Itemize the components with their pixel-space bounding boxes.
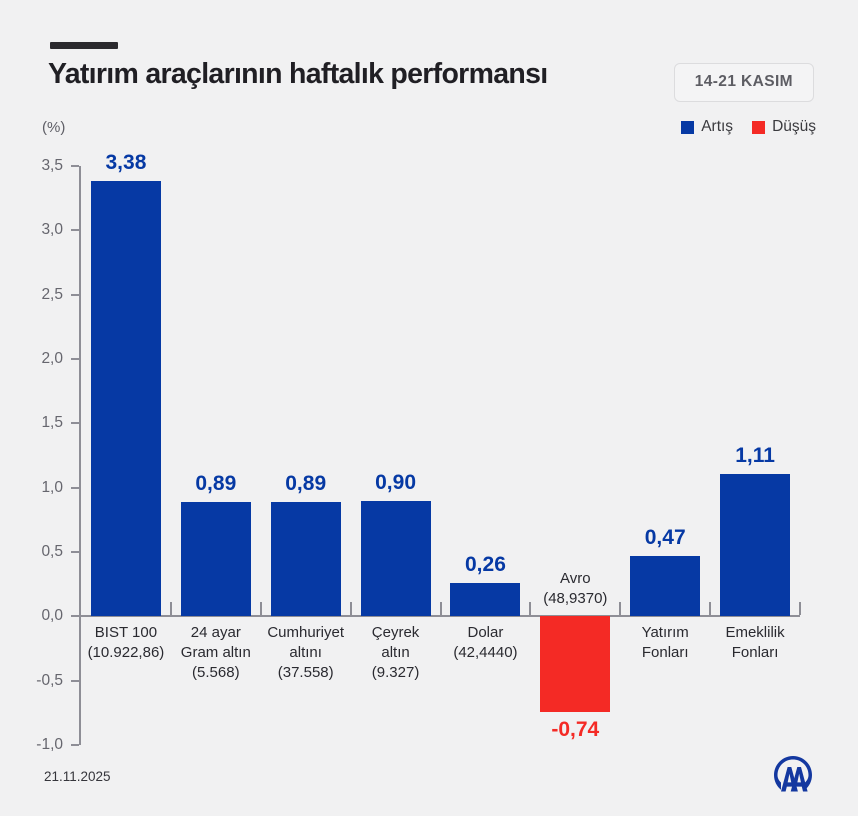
x-axis-category-label: EmeklilikFonları: [687, 623, 823, 663]
y-axis-tick: [71, 744, 79, 746]
y-axis-tick: [71, 229, 79, 231]
y-axis-tick: [71, 487, 79, 489]
category-label-line: (42,4440): [418, 643, 554, 663]
bar-chart: 3,53,02,52,01,51,00,50,0-0,5-1,03,38BIST…: [0, 0, 858, 816]
y-axis-tick-label: -0,5: [21, 672, 63, 690]
category-label-line: Avro: [507, 569, 643, 589]
y-axis-tick-label: 2,5: [21, 286, 63, 304]
bar-bist-100[interactable]: [91, 181, 161, 616]
x-axis-separator-tick: [260, 602, 262, 615]
y-axis-tick-label: 1,5: [21, 414, 63, 432]
y-axis-tick: [71, 358, 79, 360]
y-axis-tick: [71, 294, 79, 296]
y-axis-tick-label: 0,0: [21, 607, 63, 625]
x-axis-category-label: Avro(48,9370): [507, 569, 643, 609]
y-axis-tick-label: 1,0: [21, 479, 63, 497]
x-axis-separator-tick: [709, 602, 711, 615]
bar-yat-r-m-fonlar-[interactable]: [630, 556, 700, 616]
bar-cumhuriyet-alt-n-[interactable]: [271, 502, 341, 617]
x-axis-separator-tick: [799, 602, 801, 615]
y-axis-tick-label: 2,0: [21, 350, 63, 368]
x-axis-separator-tick: [350, 602, 352, 615]
x-axis-separator-tick: [619, 602, 621, 615]
anadolu-agency-logo: [770, 754, 816, 794]
y-axis-tick: [71, 680, 79, 682]
x-axis-separator-tick: [440, 602, 442, 615]
y-axis-tick-label: 3,5: [21, 157, 63, 175]
y-axis-tick-label: 3,0: [21, 221, 63, 239]
footer-date: 21.11.2025: [44, 769, 111, 784]
y-axis-tick-label: 0,5: [21, 543, 63, 561]
bar-emeklilik-fonlar-[interactable]: [720, 474, 790, 617]
y-axis-tick-label: -1,0: [21, 736, 63, 754]
bar-24-ayar-gram-alt-n[interactable]: [181, 502, 251, 617]
category-label-line: Fonları: [687, 643, 823, 663]
bar-value-label: 0,90: [331, 471, 461, 495]
y-axis-tick: [71, 615, 79, 617]
bar-value-label: -0,74: [510, 718, 640, 742]
x-axis-category-label: Dolar(42,4440): [418, 623, 554, 663]
x-axis-separator-tick: [170, 602, 172, 615]
category-label-line: (9.327): [328, 663, 464, 683]
category-label-line: Emeklilik: [687, 623, 823, 643]
bar-value-label: 3,38: [61, 151, 191, 175]
category-label-line: Dolar: [418, 623, 554, 643]
bar-value-label: 1,11: [690, 444, 820, 468]
category-label-line: (48,9370): [507, 589, 643, 609]
y-axis-tick: [71, 551, 79, 553]
bar-value-label: 0,47: [600, 526, 730, 550]
y-axis-tick: [71, 422, 79, 424]
